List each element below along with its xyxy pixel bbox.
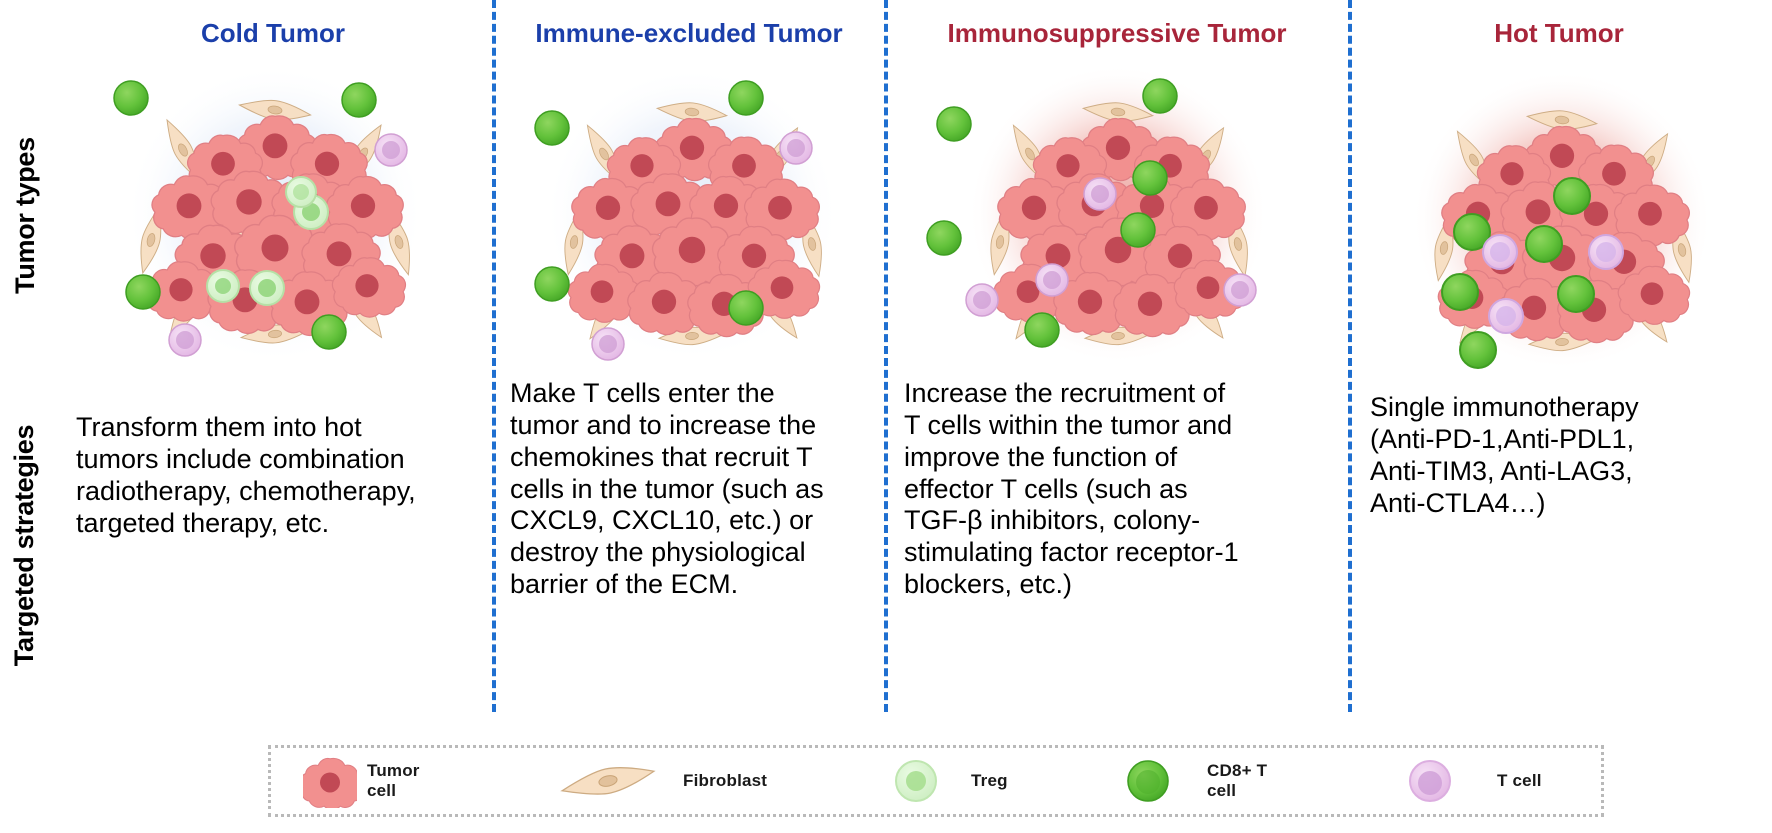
fibroblast-icon bbox=[553, 761, 663, 801]
legend-label-fibroblast: Fibroblast bbox=[683, 771, 833, 791]
tumor-illustration-immunosuppressive bbox=[888, 62, 1346, 372]
cd8-t-cell-icon bbox=[1111, 757, 1185, 805]
column-hot-tumor: Hot Tumor bbox=[1352, 0, 1766, 712]
legend-item-t-cell: T cell bbox=[1393, 748, 1617, 814]
legend-label-tumor-cell: Tumor cell bbox=[367, 761, 487, 800]
tumor-cell-icon bbox=[293, 754, 367, 808]
row-label-targeted-strategies: Targeted strategies bbox=[0, 380, 50, 710]
legend-item-cd8-t-cell: CD8+ T cell bbox=[1111, 748, 1357, 814]
treg-icon bbox=[879, 757, 953, 805]
row-label-tumor-types-text: Tumor types bbox=[10, 137, 41, 294]
legend-item-treg: Treg bbox=[879, 748, 1101, 814]
column-title-immune-excluded-tumor: Immune-excluded Tumor bbox=[496, 18, 882, 49]
column-title-cold-tumor: Cold Tumor bbox=[58, 18, 488, 49]
strategy-text-cold-tumor: Transform them into hot tumors include c… bbox=[76, 412, 480, 539]
row-label-targeted-strategies-text: Targeted strategies bbox=[10, 424, 41, 665]
column-immunosuppressive-tumor: Immunosuppressive Tumor bbox=[888, 0, 1346, 712]
legend: Tumor cell Fibroblast Treg bbox=[268, 745, 1604, 817]
strategy-text-immunosuppressive-tumor: Increase the recruitment of T cells with… bbox=[904, 378, 1344, 601]
legend-label-t-cell: T cell bbox=[1497, 771, 1617, 791]
tumor-illustration-hot bbox=[1352, 62, 1766, 372]
column-immune-excluded-tumor: Immune-excluded Tumor bbox=[496, 0, 882, 712]
tumor-immune-phenotype-figure: Tumor types Targeted strategies bbox=[0, 0, 1772, 833]
column-cold-tumor: Cold Tumor bbox=[58, 0, 488, 712]
legend-label-cd8-t-cell: CD8+ T cell bbox=[1207, 761, 1357, 800]
strategy-text-hot-tumor: Single immunotherapy (Anti-PD-1,Anti-PDL… bbox=[1370, 392, 1770, 519]
column-title-immunosuppressive-tumor: Immunosuppressive Tumor bbox=[888, 18, 1346, 49]
strategy-text-immune-excluded-tumor: Make T cells enter the tumor and to incr… bbox=[510, 378, 882, 601]
tumor-illustration-cold bbox=[58, 62, 488, 372]
legend-item-fibroblast: Fibroblast bbox=[553, 748, 833, 814]
legend-item-tumor-cell: Tumor cell bbox=[293, 748, 487, 814]
t-cell-icon bbox=[1393, 757, 1467, 805]
row-label-tumor-types: Tumor types bbox=[0, 60, 50, 370]
tumor-illustration-immune-excluded bbox=[496, 62, 882, 372]
legend-label-treg: Treg bbox=[971, 771, 1101, 791]
column-title-hot-tumor: Hot Tumor bbox=[1352, 18, 1766, 49]
